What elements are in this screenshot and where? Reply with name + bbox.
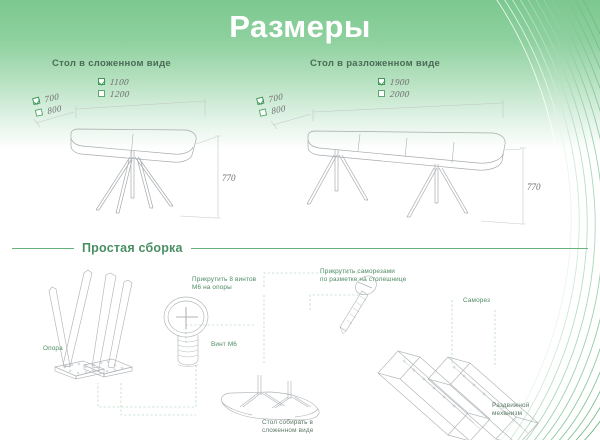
label-selftap-note: Прикрутить саморезами по разметке на сто… <box>320 268 406 284</box>
option-label: 1900 <box>389 77 410 87</box>
height-dimension-label: 770 <box>527 182 541 192</box>
checkbox-checked-icon[interactable] <box>378 78 385 85</box>
option-label: 1100 <box>109 77 129 87</box>
label-screw-m6: Винт М6 <box>211 341 237 349</box>
label-selftap: Саморез <box>463 297 490 305</box>
checkbox-checked-icon[interactable] <box>98 78 105 85</box>
poster-page: Размеры Стол в сложенном виде 1100 1200 <box>0 0 600 440</box>
unfolded-table-drawing: 770 <box>255 88 545 228</box>
page-title: Размеры <box>0 6 600 48</box>
label-screw-note: Прикрутить 8 винтов М6 на опоры <box>192 276 256 292</box>
height-dimension-label: 770 <box>222 173 236 183</box>
option-row: 1100 <box>98 76 130 87</box>
label-support: Опора <box>43 345 63 353</box>
label-table-note: Стол собирать в сложенном виде <box>262 419 313 435</box>
section-caption-unfolded: Стол в разложенном виде <box>310 58 440 69</box>
option-row: 1900 <box>378 76 410 87</box>
label-mechanism: Раздвижной механизм <box>492 402 529 418</box>
section-caption-folded: Стол в сложенном виде <box>52 58 171 69</box>
folded-table-drawing: 770 <box>30 88 245 228</box>
